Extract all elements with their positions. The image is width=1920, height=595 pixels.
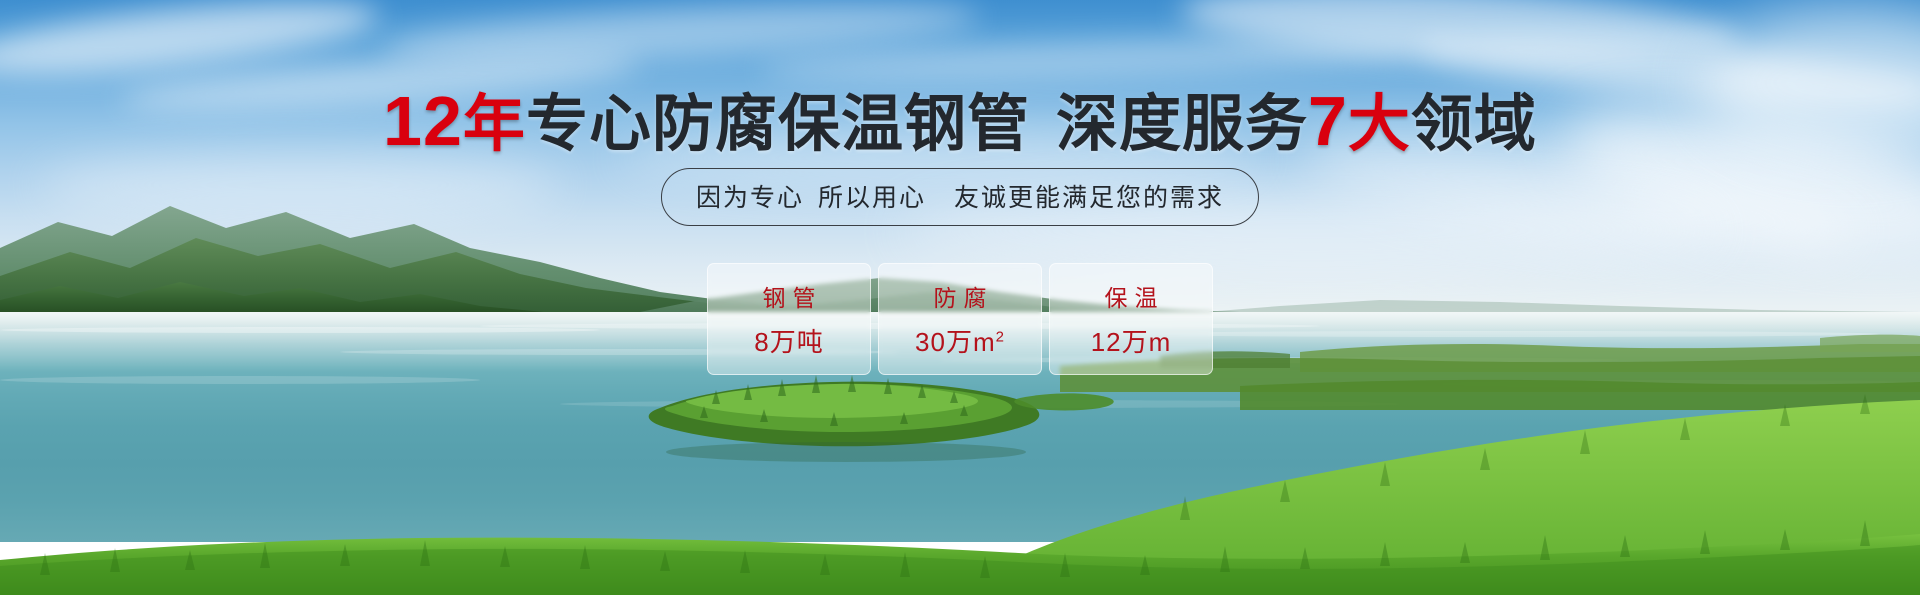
headline-years-unit: 年 [463,90,526,159]
stat-card-label: 防腐 [927,279,994,313]
stat-card-steel-pipe: 钢管 8万吨 [707,263,871,375]
headline-service-text: 深度服务 [1056,90,1308,159]
headline-fields-unit: 大 [1348,90,1411,159]
headline-fields-number: 7 [1308,82,1348,160]
headline-fields-text: 领域 [1411,90,1537,159]
hero-banner: 12年专心防腐保温钢管深度服务7大领域 因为专心所以用心友诚更能满足您的需求 钢… [0,0,1920,595]
headline: 12年专心防腐保温钢管深度服务7大领域 [0,86,1920,156]
stat-card-value: 8万吨 [754,322,823,359]
stat-card-value-main: 8万吨 [754,327,823,357]
subtitle-part-3: 友诚更能满足您的需求 [954,184,1224,212]
stat-card-value-superscript: 2 [996,328,1005,345]
banner-content: 12年专心防腐保温钢管深度服务7大领域 因为专心所以用心友诚更能满足您的需求 钢… [0,0,1920,595]
stat-card-anticorrosion: 防腐 30万m2 [878,263,1042,375]
subtitle-part-1: 因为专心 [696,184,804,212]
stat-card-label: 钢管 [756,279,823,313]
headline-years-number: 12 [383,82,463,160]
stat-card-label: 保温 [1098,279,1165,313]
stat-card-value-main: 30万m [915,327,996,357]
subtitle-part-2: 所以用心 [818,184,926,212]
stat-card-value: 12万m [1091,322,1172,359]
subtitle-pill: 因为专心所以用心友诚更能满足您的需求 [661,168,1259,226]
stat-card-group: 钢管 8万吨 防腐 30万m2 保温 12万m [707,263,1213,375]
stat-card-value: 30万m2 [915,322,1005,359]
headline-main-text: 专心防腐保温钢管 [526,90,1030,159]
stat-card-value-main: 12万m [1091,327,1172,357]
stat-card-insulation: 保温 12万m [1049,263,1213,375]
